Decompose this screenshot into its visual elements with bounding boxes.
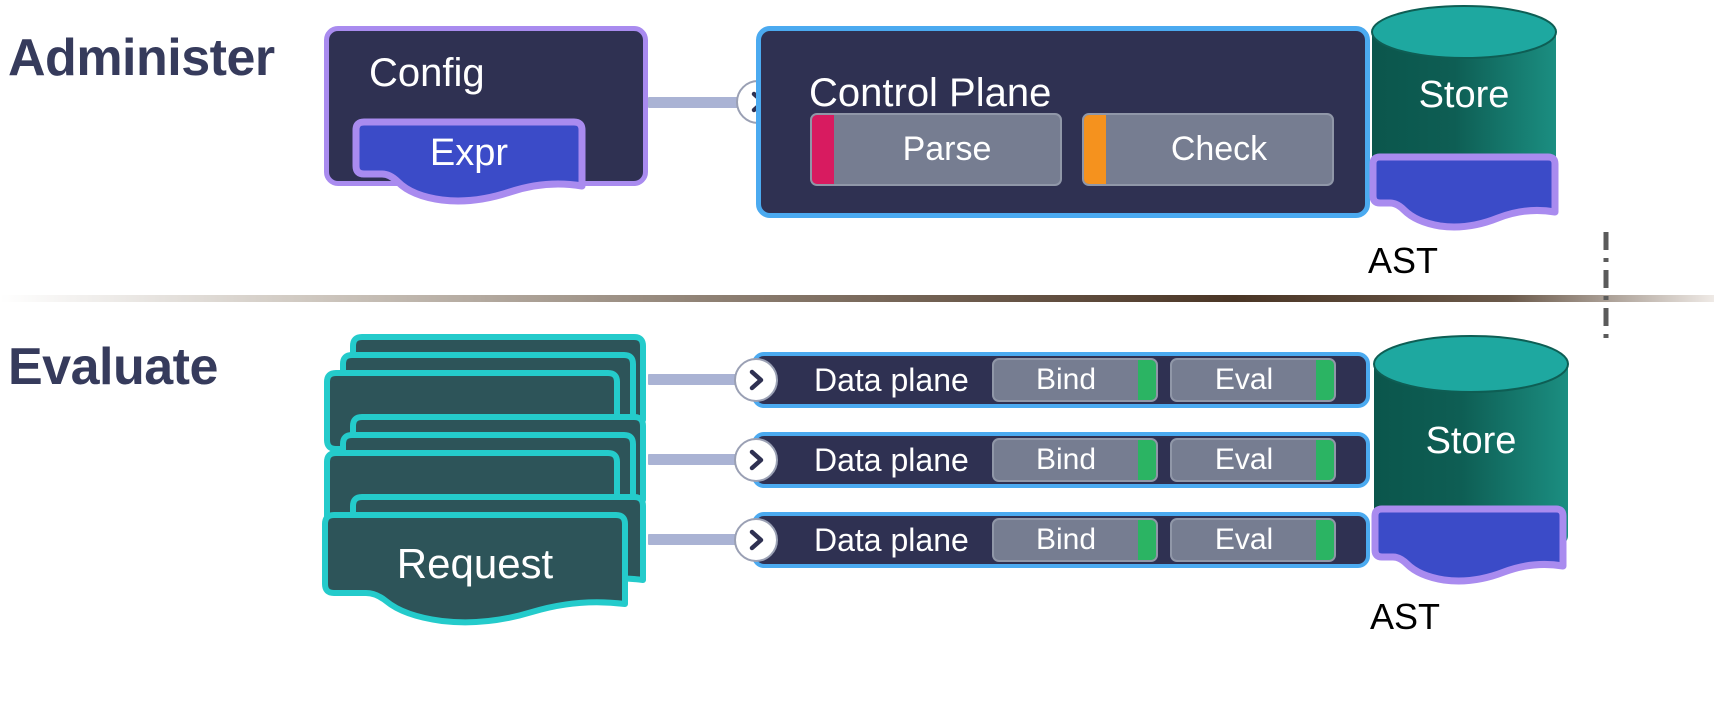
eval-accent-bar-2	[1316, 440, 1334, 480]
check-label: Check	[1084, 130, 1332, 169]
ast-document-evaluate[interactable]: AST	[1370, 504, 1568, 596]
data-plane-title-1: Data plane	[814, 362, 969, 399]
section-label-evaluate: Evaluate	[8, 337, 218, 397]
check-accent-bar	[1084, 115, 1106, 184]
eval-accent-bar-3	[1316, 520, 1334, 560]
stage-parse[interactable]: Parse	[810, 113, 1062, 186]
expr-label: Expr	[350, 132, 588, 175]
bind-accent-bar-2	[1138, 440, 1156, 480]
eval-label-1: Eval	[1172, 363, 1334, 397]
stage-bind-3[interactable]: Bind	[992, 518, 1158, 562]
parse-accent-bar	[812, 115, 834, 184]
connector-ast-to-store-dashdot	[1596, 232, 1616, 342]
store-label-evaluate: Store	[1372, 420, 1570, 463]
expr-document[interactable]: Expr	[350, 116, 588, 212]
data-plane-title-2: Data plane	[814, 442, 969, 479]
store-label-administer: Store	[1370, 74, 1558, 117]
ast-document-administer[interactable]: AST	[1368, 152, 1560, 240]
request-document[interactable]: Request	[320, 510, 630, 638]
stage-eval-1[interactable]: Eval	[1170, 358, 1336, 402]
chevron-right-icon[interactable]	[734, 518, 778, 562]
stage-eval-2[interactable]: Eval	[1170, 438, 1336, 482]
diagram-canvas: Administer Evaluate Config Expr Control …	[0, 0, 1714, 705]
section-label-administer: Administer	[8, 28, 275, 88]
stage-eval-3[interactable]: Eval	[1170, 518, 1336, 562]
data-plane-title-3: Data plane	[814, 522, 969, 559]
bind-accent-bar-1	[1138, 360, 1156, 400]
eval-label-3: Eval	[1172, 523, 1334, 557]
bind-accent-bar-3	[1138, 520, 1156, 560]
bind-label-2: Bind	[994, 443, 1156, 477]
config-title: Config	[369, 51, 485, 96]
stage-bind-1[interactable]: Bind	[992, 358, 1158, 402]
stage-bind-2[interactable]: Bind	[992, 438, 1158, 482]
section-divider	[0, 295, 1714, 302]
eval-accent-bar-1	[1316, 360, 1334, 400]
ast-label-administer: AST	[1368, 240, 1560, 282]
eval-label-2: Eval	[1172, 443, 1334, 477]
parse-label: Parse	[812, 130, 1060, 169]
stage-check[interactable]: Check	[1082, 113, 1334, 186]
chevron-right-icon[interactable]	[734, 358, 778, 402]
bind-label-1: Bind	[994, 363, 1156, 397]
control-plane-title: Control Plane	[809, 71, 1051, 116]
ast-label-evaluate: AST	[1370, 596, 1568, 638]
chevron-right-icon[interactable]	[734, 438, 778, 482]
request-label: Request	[320, 540, 630, 588]
bind-label-3: Bind	[994, 523, 1156, 557]
